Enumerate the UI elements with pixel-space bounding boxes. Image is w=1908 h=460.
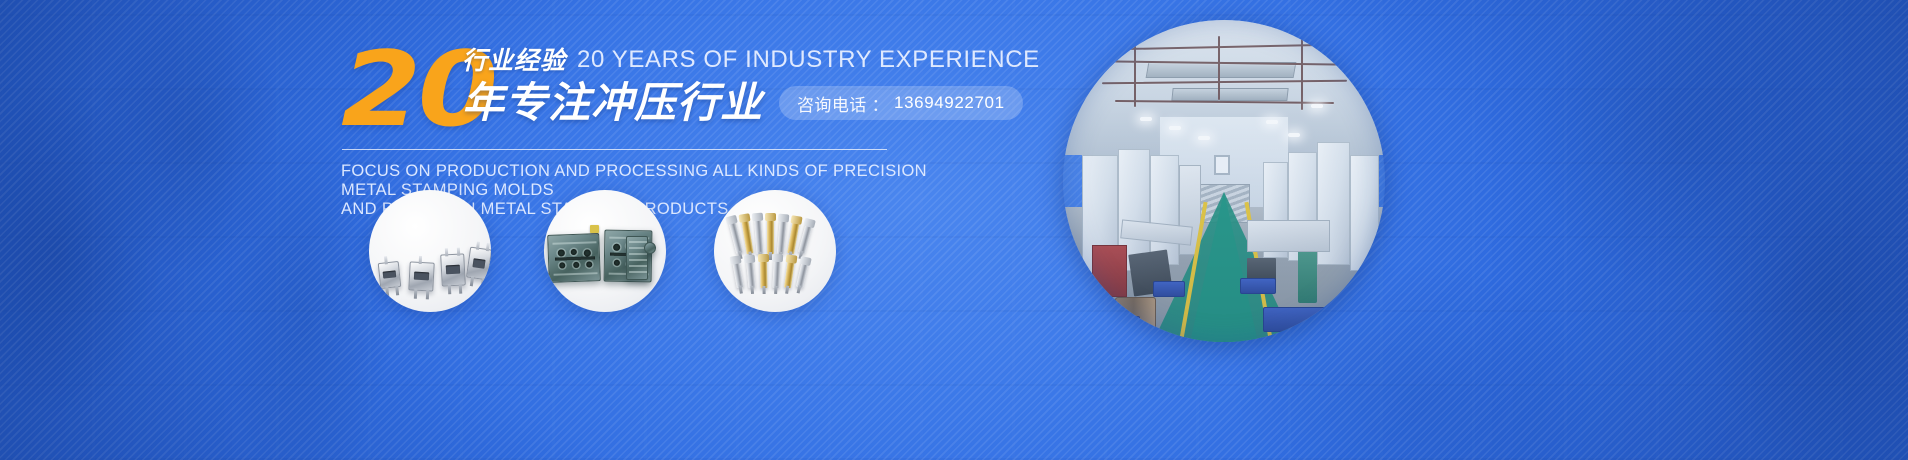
product-circle-stamping-die bbox=[544, 190, 666, 312]
usb-shell-3 bbox=[440, 253, 466, 286]
pin-5 bbox=[777, 218, 787, 254]
pin-11 bbox=[772, 258, 781, 288]
blue-pallet-r1 bbox=[1240, 278, 1275, 294]
die-yellow-marker bbox=[590, 225, 599, 233]
blue-pallet-l2 bbox=[1153, 281, 1185, 297]
usb-connector-scene bbox=[369, 190, 491, 312]
green-machine bbox=[1298, 245, 1317, 303]
ceiling-lamp-6 bbox=[1311, 104, 1323, 108]
pin-9 bbox=[746, 259, 756, 288]
factory-scene bbox=[1063, 20, 1385, 342]
headline-line-main: 年专注冲压行业 咨询电话 ： 13694922701 bbox=[462, 79, 1040, 127]
ceiling-lamp-1 bbox=[1140, 117, 1152, 121]
usb-shell-4 bbox=[466, 247, 491, 281]
phone-badge[interactable]: 咨询电话 ： 13694922701 bbox=[779, 86, 1023, 120]
phone-number: 13694922701 bbox=[894, 93, 1005, 113]
headline-line-top: 行业经验 20 YEARS OF INDUSTRY EXPERIENCE bbox=[462, 40, 1040, 73]
blue-pallet-l1 bbox=[1089, 316, 1141, 339]
phone-separator: ： bbox=[872, 91, 889, 116]
ceiling-lamp-4 bbox=[1266, 120, 1278, 124]
red-cabinet bbox=[1092, 245, 1127, 297]
headline-text-block: 行业经验 20 YEARS OF INDUSTRY EXPERIENCE 年专注… bbox=[462, 40, 1040, 127]
phone-label: 咨询电话 bbox=[797, 91, 867, 116]
product-circle-terminal-pins bbox=[714, 190, 836, 312]
pin-12 bbox=[784, 259, 795, 289]
promo-banner: 20 行业经验 20 YEARS OF INDUSTRY EXPERIENCE … bbox=[0, 0, 1908, 460]
ceiling-pipe-v2 bbox=[1218, 36, 1220, 100]
die-punch-strip bbox=[626, 236, 648, 280]
ceiling-lamp-2 bbox=[1169, 126, 1181, 130]
pin-8 bbox=[732, 259, 744, 288]
wooden-stool bbox=[1076, 290, 1095, 306]
pin-13 bbox=[796, 260, 809, 288]
bench-row-right bbox=[1247, 220, 1331, 252]
stamping-die-scene bbox=[544, 190, 666, 312]
die-round-boss bbox=[644, 242, 656, 254]
pin-7 bbox=[798, 222, 813, 254]
terminal-pins-scene bbox=[714, 190, 836, 312]
ceiling-duct-2 bbox=[1172, 88, 1289, 101]
pin-1 bbox=[728, 219, 743, 254]
pin-4 bbox=[767, 217, 774, 254]
headline-cn-main: 年专注冲压行业 bbox=[462, 82, 763, 124]
pin-10 bbox=[760, 258, 768, 288]
pin-2 bbox=[741, 217, 754, 254]
factory-workshop-photo bbox=[1063, 20, 1385, 342]
back-window bbox=[1214, 155, 1230, 174]
pin-3 bbox=[754, 217, 764, 254]
product-circle-usb-connector-shells bbox=[369, 190, 491, 312]
blue-pallet-r2 bbox=[1263, 307, 1353, 333]
machine-column-r4 bbox=[1350, 155, 1379, 271]
ceiling-lamp-5 bbox=[1288, 133, 1300, 137]
usb-shell-1 bbox=[378, 261, 402, 289]
headline-row: 20 行业经验 20 YEARS OF INDUSTRY EXPERIENCE … bbox=[341, 40, 1081, 136]
ceiling-pipe-v1 bbox=[1134, 36, 1136, 107]
usb-shell-2 bbox=[408, 261, 434, 291]
headline-cn-subtitle: 行业经验 bbox=[462, 48, 566, 73]
headline-en-subtitle: 20 YEARS OF INDUSTRY EXPERIENCE bbox=[577, 48, 1040, 73]
die-plate-left bbox=[547, 233, 601, 283]
ceiling-lamp-3 bbox=[1198, 136, 1210, 140]
